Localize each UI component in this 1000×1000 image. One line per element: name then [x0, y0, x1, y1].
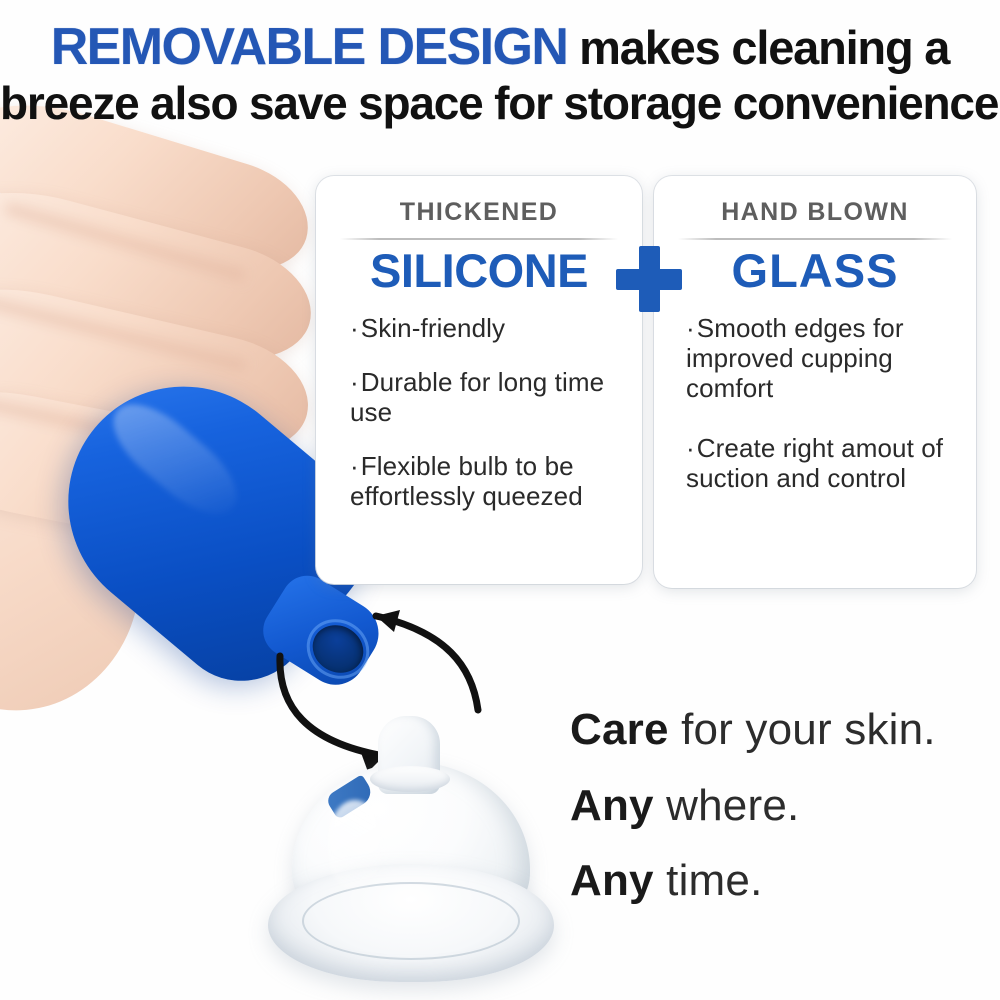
- card-silicone-title: SILICONE: [332, 246, 626, 297]
- list-item: ·Skin-friendly: [350, 313, 626, 343]
- plus-vertical-bar: [639, 246, 660, 312]
- tagline-line-2: Any where.: [570, 768, 990, 844]
- headline-rest: makes cleaning a: [567, 21, 949, 74]
- bullet-marker-icon: ·: [350, 367, 359, 397]
- tagline-line-1: Care for your skin.: [570, 692, 990, 768]
- headline-line-1: REMOVABLE DESIGN makes cleaning a: [0, 22, 1000, 73]
- tagline-strong: Any: [570, 781, 654, 830]
- card-glass: HAND BLOWN GLASS ·Smooth edges for impro…: [654, 176, 976, 588]
- list-item: ·Smooth edges for improved cupping comfo…: [686, 313, 960, 403]
- list-item: ·Create right amout of suction and contr…: [686, 433, 960, 493]
- bullet-marker-icon: ·: [686, 433, 695, 463]
- card-silicone-bullet-list: ·Skin-friendly ·Durable for long time us…: [332, 313, 626, 512]
- card-glass-title: GLASS: [670, 246, 960, 297]
- bullet-marker-icon: ·: [350, 313, 359, 343]
- card-glass-divider: [678, 238, 952, 240]
- list-item-text: Skin-friendly: [361, 313, 505, 343]
- list-item-text: Create right amout of suction and contro…: [686, 433, 943, 493]
- list-item-text: Flexible bulb to be effortlessly queezed: [350, 451, 583, 511]
- tagline-rest: where.: [654, 781, 800, 830]
- plus-sign-icon: [616, 246, 682, 312]
- tagline-rest: time.: [654, 856, 763, 905]
- list-item-text: Smooth edges for improved cupping comfor…: [686, 313, 904, 403]
- tagline-line-3: Any time.: [570, 843, 990, 919]
- headline: REMOVABLE DESIGN makes cleaning a breeze…: [0, 22, 1000, 126]
- headline-line-2: breeze also save space for storage conve…: [0, 81, 1000, 126]
- tagline-rest: for your skin.: [669, 705, 936, 754]
- list-item: ·Durable for long time use: [350, 367, 626, 427]
- card-glass-eyebrow: HAND BLOWN: [670, 198, 960, 227]
- tagline-strong: Care: [570, 705, 669, 754]
- tagline-strong: Any: [570, 856, 654, 905]
- bullet-marker-icon: ·: [686, 313, 695, 343]
- bullet-marker-icon: ·: [350, 451, 359, 481]
- list-item: ·Flexible bulb to be effortlessly queeze…: [350, 451, 626, 511]
- tagline-block: Care for your skin. Any where. Any time.: [570, 692, 990, 919]
- product-infographic: REMOVABLE DESIGN makes cleaning a breeze…: [0, 0, 1000, 1000]
- card-silicone: THICKENED SILICONE ·Skin-friendly ·Durab…: [316, 176, 642, 584]
- card-silicone-eyebrow: THICKENED: [332, 198, 626, 227]
- headline-highlight: REMOVABLE DESIGN: [51, 18, 568, 76]
- list-item-text: Durable for long time use: [350, 367, 604, 427]
- card-glass-bullet-list: ·Smooth edges for improved cupping comfo…: [670, 313, 960, 494]
- card-silicone-divider: [340, 238, 618, 240]
